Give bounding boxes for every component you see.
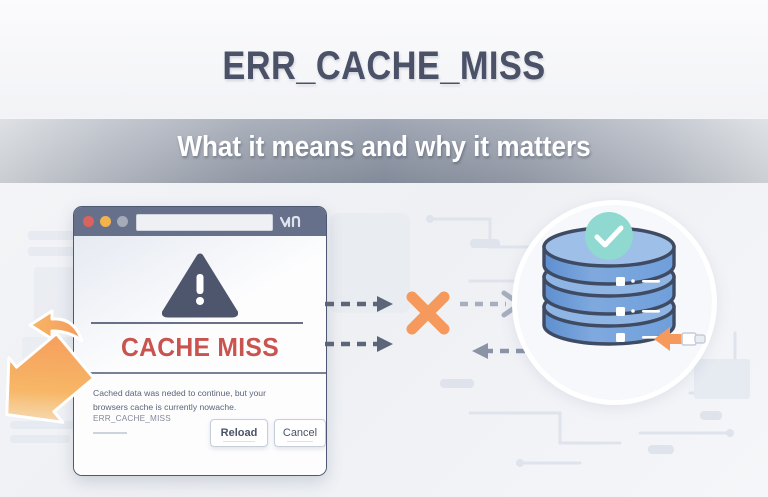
maximize-dot-icon[interactable]	[117, 216, 128, 227]
illustration-area: CACHE MISS Cached data was neded to cont…	[0, 183, 768, 497]
request-flow-arrows	[325, 278, 415, 368]
page-subtitle: What it means and why it matters	[38, 131, 729, 164]
browser-window-mockup[interactable]: CACHE MISS Cached data was neded to cont…	[73, 206, 327, 476]
address-bar[interactable]	[136, 214, 273, 231]
reload-button-label: Reload	[221, 427, 258, 439]
button-underline	[223, 441, 255, 442]
error-headline: CACHE MISS	[80, 332, 319, 363]
button-underline	[287, 441, 313, 442]
page-title: ERR_CACHE_MISS	[54, 44, 714, 89]
browser-page-area: CACHE MISS Cached data was neded to cont…	[74, 236, 326, 475]
minimize-dot-icon[interactable]	[100, 216, 111, 227]
content-divider	[91, 322, 303, 324]
x-cross-icon	[403, 288, 453, 338]
dialog-body-text: Cached data was neded to continue, but y…	[93, 386, 293, 414]
plug-connector-icon	[648, 322, 708, 356]
dialog-separator	[74, 372, 326, 374]
check-circle-icon	[583, 210, 635, 262]
close-dot-icon[interactable]	[83, 216, 94, 227]
orange-arrow-icon	[0, 293, 110, 483]
dialog-body-line-1: Cached data was neded to continue, but y…	[93, 386, 293, 400]
browser-titlebar	[74, 207, 326, 237]
reload-button[interactable]: Reload	[210, 419, 268, 447]
screenshot-root: ERR_CACHE_MISS What it means and why it …	[0, 0, 768, 497]
cancel-button-label: Cancel	[283, 427, 317, 439]
dialog-body-line-2: browsers cache is currently nowache.	[93, 400, 293, 414]
cancel-button[interactable]: Cancel	[274, 419, 326, 447]
warning-triangle-icon	[162, 252, 238, 318]
vn-squiggle-logo-icon	[279, 215, 309, 229]
